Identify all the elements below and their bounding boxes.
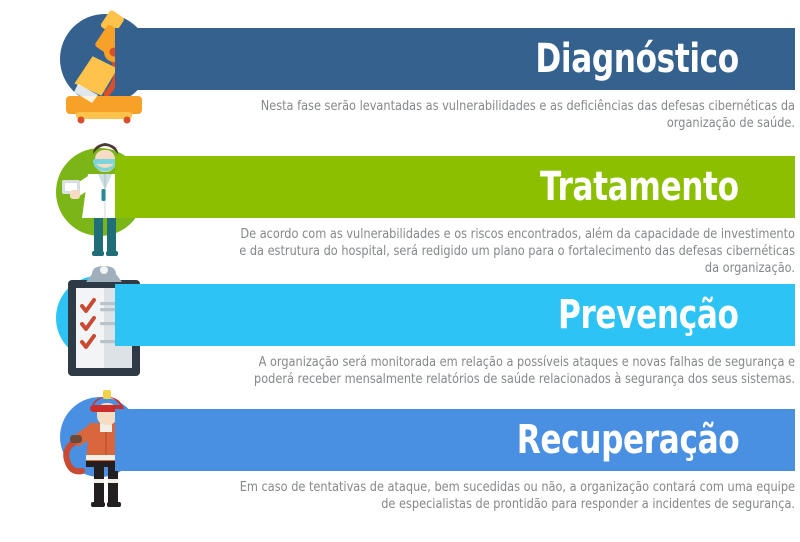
phase-title: Diagnóstico xyxy=(536,39,739,79)
phase-description: Nesta fase serão levantadas as vulnerabi… xyxy=(232,98,795,132)
phase-banner-tratamento: Tratamento xyxy=(115,156,795,218)
infographic-root: Diagnóstico Nesta fase serão levantadas … xyxy=(0,0,800,542)
phase-description: Em caso de tentativas de ataque, bem suc… xyxy=(232,479,795,513)
phase-block-tratamento: Tratamento De acordo com as vulnerabilid… xyxy=(0,128,800,261)
phase-title: Tratamento xyxy=(540,167,739,207)
phase-block-prevencao: Prevenção A organização será monitorada … xyxy=(0,256,800,389)
phase-block-recuperacao: Recuperação Em caso de tentativas de ata… xyxy=(0,381,800,521)
phase-title: Prevenção xyxy=(558,295,739,335)
phase-title: Recuperação xyxy=(516,420,739,460)
phase-banner-prevencao: Prevenção xyxy=(115,284,795,346)
phase-block-diagnostico: Diagnóstico Nesta fase serão levantadas … xyxy=(0,0,800,133)
phase-banner-recuperacao: Recuperação xyxy=(115,409,795,471)
phase-banner-diagnostico: Diagnóstico xyxy=(115,28,795,90)
